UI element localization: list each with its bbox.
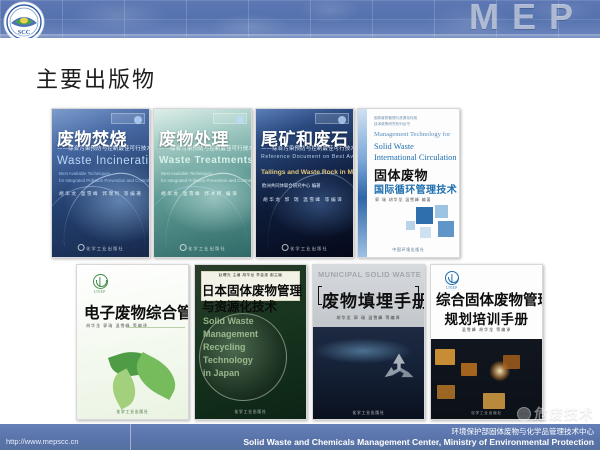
book-subtitle-cn: ——综合污染预防与控制最佳可行技术 bbox=[159, 144, 252, 152]
book-title-cn: 电子废物综合管理 bbox=[84, 301, 189, 323]
recycle-icon bbox=[382, 351, 416, 383]
decorative-square bbox=[438, 221, 454, 237]
book-title-en-5: in Japan bbox=[203, 367, 258, 380]
ghost-en-title: MUNICIPAL SOLID WASTE LANDFILL bbox=[318, 270, 425, 279]
book-subtitle-cn: ——综合污染预防与控制最佳可行技术 bbox=[57, 144, 150, 152]
cover-photo: 化学工业出版社 bbox=[431, 339, 542, 419]
book-cover-waste-landfill-handbook[interactable]: MUNICIPAL SOLID WASTE LANDFILL 废物填埋手册 胡华… bbox=[312, 264, 425, 420]
book-authors: 胡华龙 郭瑞 温雪峰 等编译 bbox=[86, 323, 148, 329]
unep-logo-icon: UNEP bbox=[441, 271, 463, 290]
book-authors: 胡华龙 郭 瑞 温雪峰 等编译 bbox=[313, 315, 424, 321]
watermark-text: 危废技术 bbox=[534, 404, 594, 424]
series-badge bbox=[213, 113, 247, 124]
publisher-mark: 中国环境出版社 bbox=[392, 247, 424, 253]
book-title-en: Waste Treatments Industries bbox=[159, 155, 252, 166]
book-authors: 胡华龙 温雪峰 郭瑞利 等编著 bbox=[59, 191, 143, 197]
scc-emblem-icon: SCC bbox=[3, 1, 45, 38]
slide-canvas: SCC MEP 主要出版物 废物焚烧 ——综合污染预防与控制最佳可行技术 Was… bbox=[0, 0, 600, 450]
book-cover-integrated-solid-waste-management-training[interactable]: UNEP 综合固体废物管理 规划培训手册 温雪峰 胡华龙 等编译 化学工业出版社 bbox=[430, 264, 543, 420]
book-series-line: 固体废物管理与资源化利用 技术政策研究系列丛书 bbox=[374, 116, 417, 127]
book-title-en-3: International Circulation bbox=[374, 152, 457, 163]
book-subtitle-en-2: for Integrated Pollution Prevention and … bbox=[161, 177, 251, 184]
book-authors: 郭 瑞 胡华龙 温雪峰 编著 bbox=[375, 197, 431, 203]
footer-org-cn: 环境保护部固体废物与化学品管理技术中心 bbox=[452, 426, 595, 437]
book-cover-solid-waste-international-circulation[interactable]: 固体废物管理与资源化利用 技术政策研究系列丛书 Management Techn… bbox=[357, 108, 460, 258]
publisher-mark: 化学工业出版社 bbox=[471, 411, 502, 416]
book-subtitle-en-2: for Integrated Pollution Prevention and … bbox=[59, 177, 149, 184]
decorative-swoosh bbox=[260, 168, 354, 248]
book-subtitle-en-1: Best Available Techniques bbox=[59, 170, 110, 177]
book-authors: 胡华龙 温雪峰 郭冰舸 编译 bbox=[161, 191, 238, 197]
decorative-block bbox=[435, 349, 455, 365]
book-title-en-highlight: Tailings and Waste Rock in Mining Activi… bbox=[261, 169, 354, 176]
book-title-cn-2: 国际循环管理技术 bbox=[374, 181, 457, 196]
footer-website-url[interactable]: http://www.mepscc.cn bbox=[6, 437, 79, 446]
unep-logo-icon: UNEP bbox=[89, 274, 111, 294]
slide-footer: http://www.mepscc.cn 环境保护部固体废物与化学品管理技术中心… bbox=[0, 424, 600, 450]
book-series-line-2: 技术政策研究系列丛书 bbox=[374, 122, 417, 128]
book-organisation: 欧洲共同体联合研究中心 编著 bbox=[262, 183, 320, 189]
publisher-mark: 化学工业出版社 bbox=[352, 410, 384, 416]
book-title-en-1: Management Technology for bbox=[374, 131, 450, 138]
book-title-en-4: Technology bbox=[203, 354, 258, 367]
book-subtitle-cn: ——综合污染预防与控制最佳可行技术 bbox=[261, 144, 354, 152]
publisher-mark: 化学工业出版社 bbox=[77, 244, 124, 252]
book-spine bbox=[358, 109, 367, 257]
series-badge bbox=[315, 113, 349, 124]
slide-header: SCC MEP bbox=[0, 0, 600, 38]
footer-org-en: Solid Waste and Chemicals Management Cen… bbox=[243, 437, 594, 447]
book-title-en: Reference Document on Best Available Tec… bbox=[261, 154, 354, 162]
series-badge bbox=[111, 113, 145, 124]
publications-row-2: UNEP 电子废物综合管理 胡华龙 郭瑞 温雪峰 等编译 化学工业出版社 赵曙光… bbox=[76, 264, 543, 420]
cover-photo: 化学工业出版社 bbox=[313, 327, 424, 419]
book-authors: 温雪峰 胡华龙 等编译 bbox=[431, 327, 542, 333]
decorative-square bbox=[416, 207, 433, 224]
book-authors: 胡华龙 郭 瑞 温雪峰 等编译 bbox=[263, 197, 343, 203]
book-title-en-2: Solid Waste bbox=[374, 141, 457, 152]
publisher-mark: 化学工业出版社 bbox=[179, 244, 226, 252]
page-title: 主要出版物 bbox=[36, 62, 156, 94]
decorative-square bbox=[435, 205, 448, 218]
mep-brand-text: MEP bbox=[469, 0, 586, 34]
book-title-cn-1: 综合固体废物管理 bbox=[436, 289, 543, 310]
book-title-en-block: Solid Waste International Circulation bbox=[374, 141, 457, 163]
book-title-en: Waste Incineration bbox=[57, 155, 150, 167]
footer-divider bbox=[130, 424, 131, 450]
book-cover-waste-incineration[interactable]: 废物焚烧 ——综合污染预防与控制最佳可行技术 Waste Incineratio… bbox=[51, 108, 150, 258]
book-title-en-2: Management bbox=[203, 328, 258, 341]
book-title-en-block: Solid Waste Management Recycling Technol… bbox=[203, 315, 258, 380]
publisher-mark: 化学工业出版社 bbox=[234, 409, 266, 415]
decorative-block bbox=[503, 355, 520, 369]
book-cover-japan-solid-waste-management[interactable]: 赵曙光 主编 胡华龙 李金惠 副主编 日本固体废物管理 与资源化技术 Solid… bbox=[194, 264, 307, 420]
publications-row-1: 废物焚烧 ——综合污染预防与控制最佳可行技术 Waste Incineratio… bbox=[51, 108, 460, 258]
decorative-square bbox=[406, 221, 415, 230]
book-cover-tailings-and-waste-rock[interactable]: 尾矿和废石 ——综合污染预防与控制最佳可行技术 Reference Docume… bbox=[255, 108, 354, 258]
book-authors: 赵曙光 主编 胡华龙 李金惠 副主编 bbox=[203, 273, 298, 278]
decorative-square bbox=[420, 227, 431, 238]
header-bottom-highlight bbox=[0, 34, 600, 38]
decorative-block bbox=[461, 363, 477, 376]
book-title-en-3: Recycling bbox=[203, 341, 258, 354]
divider-rule bbox=[127, 327, 185, 328]
book-title-cn: 废物填埋手册 bbox=[322, 287, 425, 312]
decorative-block bbox=[437, 385, 455, 399]
book-cover-waste-treatments-industries[interactable]: 废物处理 ——综合污染预防与控制最佳可行技术 Waste Treatments … bbox=[153, 108, 252, 258]
unep-label: UNEP bbox=[89, 290, 111, 294]
book-subtitle-en-1: Best Available Techniques bbox=[161, 170, 212, 177]
book-cover-e-waste-integrated-management[interactable]: UNEP 电子废物综合管理 胡华龙 郭瑞 温雪峰 等编译 化学工业出版社 bbox=[76, 264, 189, 420]
book-title-cn-2: 规划培训手册 bbox=[431, 308, 542, 328]
publisher-mark: 化学工业出版社 bbox=[116, 409, 148, 415]
decorative-block bbox=[483, 393, 505, 409]
book-series-line-1: 固体废物管理与资源化利用 bbox=[374, 116, 417, 122]
publisher-mark: 化学工业出版社 bbox=[281, 244, 328, 252]
book-title-en-1: Solid Waste bbox=[203, 315, 258, 328]
